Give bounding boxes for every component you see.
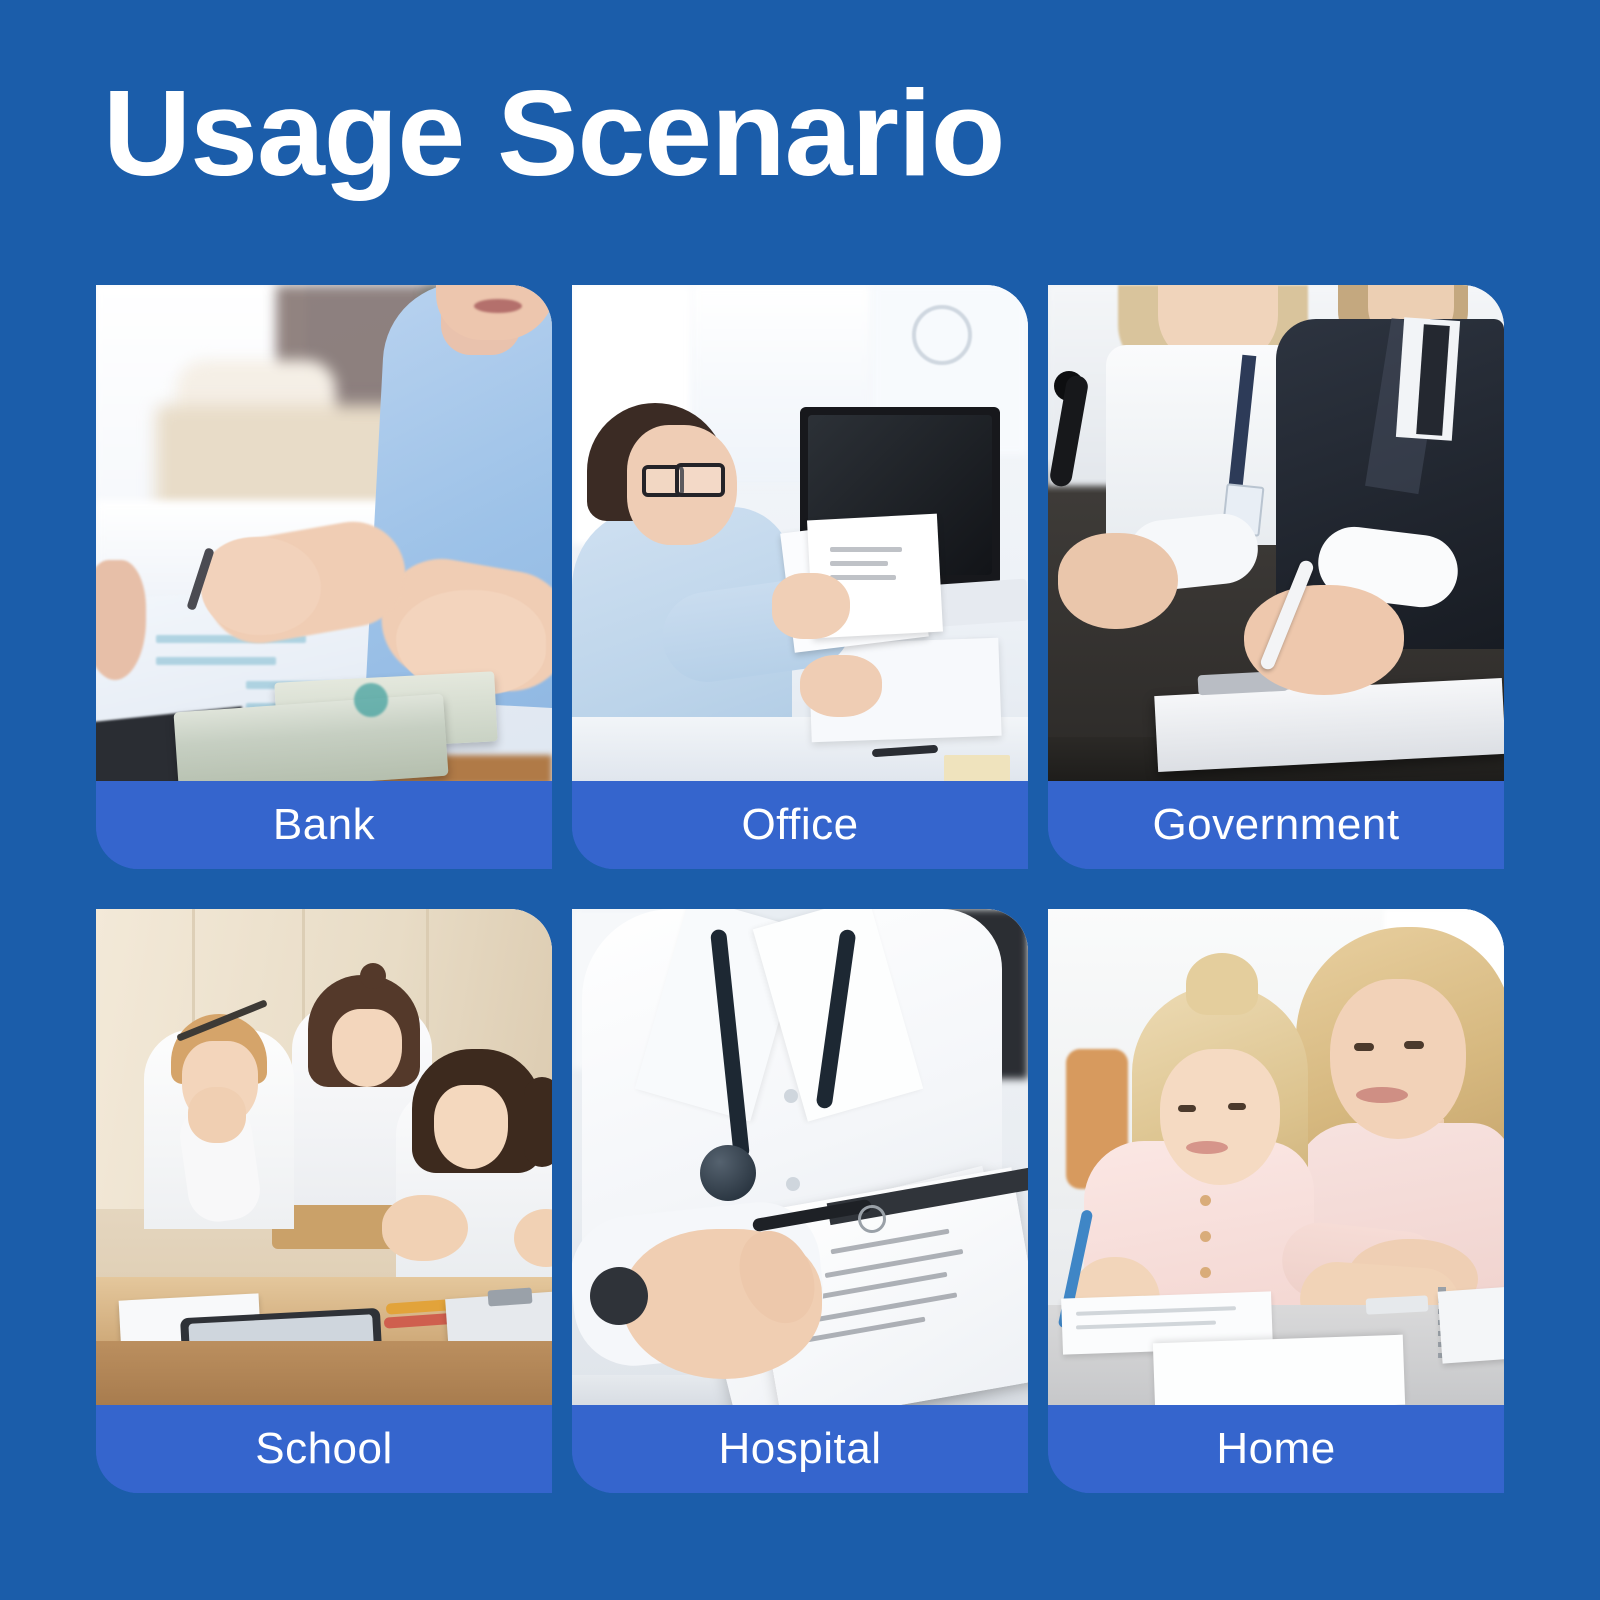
page-title: Usage Scenario bbox=[103, 72, 1004, 194]
hospital-scene-illustration bbox=[572, 909, 1028, 1405]
scenario-label-home: Home bbox=[1048, 1405, 1504, 1493]
office-scene-illustration bbox=[572, 285, 1028, 781]
bank-scene-illustration bbox=[96, 285, 552, 781]
scenario-label-school: School bbox=[96, 1405, 552, 1493]
school-scene-illustration bbox=[96, 909, 552, 1405]
scenario-grid: Bank bbox=[96, 285, 1504, 1513]
scenario-card-hospital[interactable]: Hospital bbox=[572, 909, 1028, 1493]
scenario-card-bank[interactable]: Bank bbox=[96, 285, 552, 869]
bank-photo bbox=[96, 285, 552, 781]
office-photo bbox=[572, 285, 1028, 781]
scenario-label-bank: Bank bbox=[96, 781, 552, 869]
scenario-label-office: Office bbox=[572, 781, 1028, 869]
usage-scenario-poster: Usage Scenario bbox=[0, 0, 1600, 1600]
home-photo bbox=[1048, 909, 1504, 1405]
scenario-label-government: Government bbox=[1048, 781, 1504, 869]
hospital-photo bbox=[572, 909, 1028, 1405]
government-scene-illustration bbox=[1048, 285, 1504, 781]
government-photo bbox=[1048, 285, 1504, 781]
scenario-label-hospital: Hospital bbox=[572, 1405, 1028, 1493]
scenario-card-government[interactable]: Government bbox=[1048, 285, 1504, 869]
home-scene-illustration bbox=[1048, 909, 1504, 1405]
school-photo bbox=[96, 909, 552, 1405]
scenario-card-home[interactable]: Home bbox=[1048, 909, 1504, 1493]
scenario-card-school[interactable]: School bbox=[96, 909, 552, 1493]
scenario-card-office[interactable]: Office bbox=[572, 285, 1028, 869]
